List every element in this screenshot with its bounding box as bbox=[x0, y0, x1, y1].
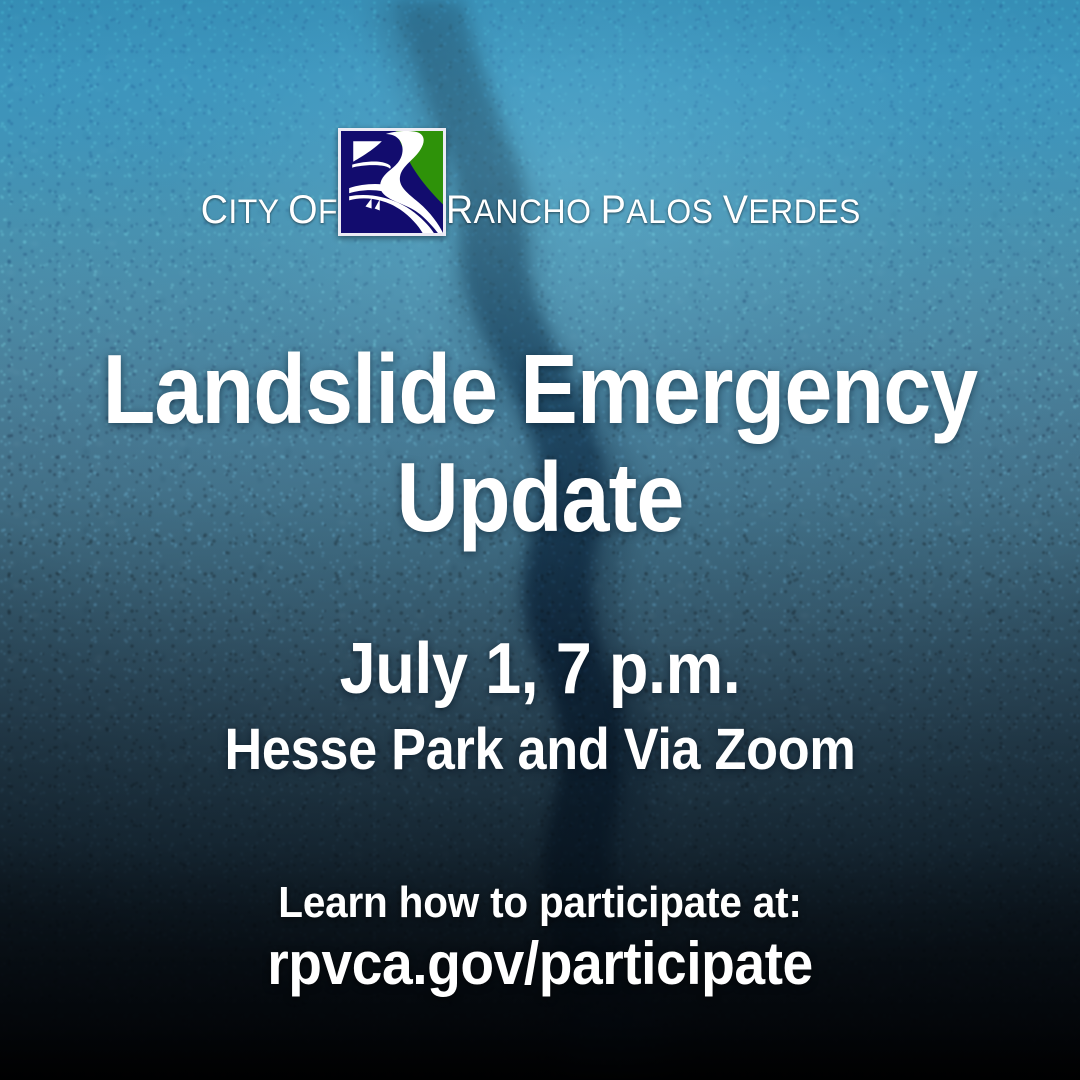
logo-rancho-palos-verdes-text: RANCHO PALOS VERDES bbox=[446, 190, 861, 236]
logo-city-of-text: CITY OF bbox=[201, 190, 338, 236]
event-datetime: July 1, 7 p.m. bbox=[90, 632, 990, 707]
logo-suffix-label: RANCHO PALOS VERDES bbox=[446, 193, 861, 231]
poster-headline: Landslide Emergency Update bbox=[100, 336, 980, 552]
cta-url-link[interactable]: rpvca.gov/participate bbox=[80, 932, 1000, 995]
rancho-palos-verdes-pelican-seal-icon bbox=[338, 128, 446, 236]
cta-lead-text: Learn how to participate at: bbox=[80, 880, 1000, 926]
city-logo-lockup: CITY OF RANCHO PA bbox=[0, 128, 1080, 236]
headline-line-1: Landslide Emergency bbox=[100, 336, 980, 444]
landslide-emergency-update-poster: CITY OF RANCHO PA bbox=[0, 0, 1080, 1080]
pelican-seal-artwork bbox=[341, 131, 443, 233]
headline-line-2: Update bbox=[100, 444, 980, 552]
event-venue: Hesse Park and Via Zoom bbox=[90, 720, 990, 780]
